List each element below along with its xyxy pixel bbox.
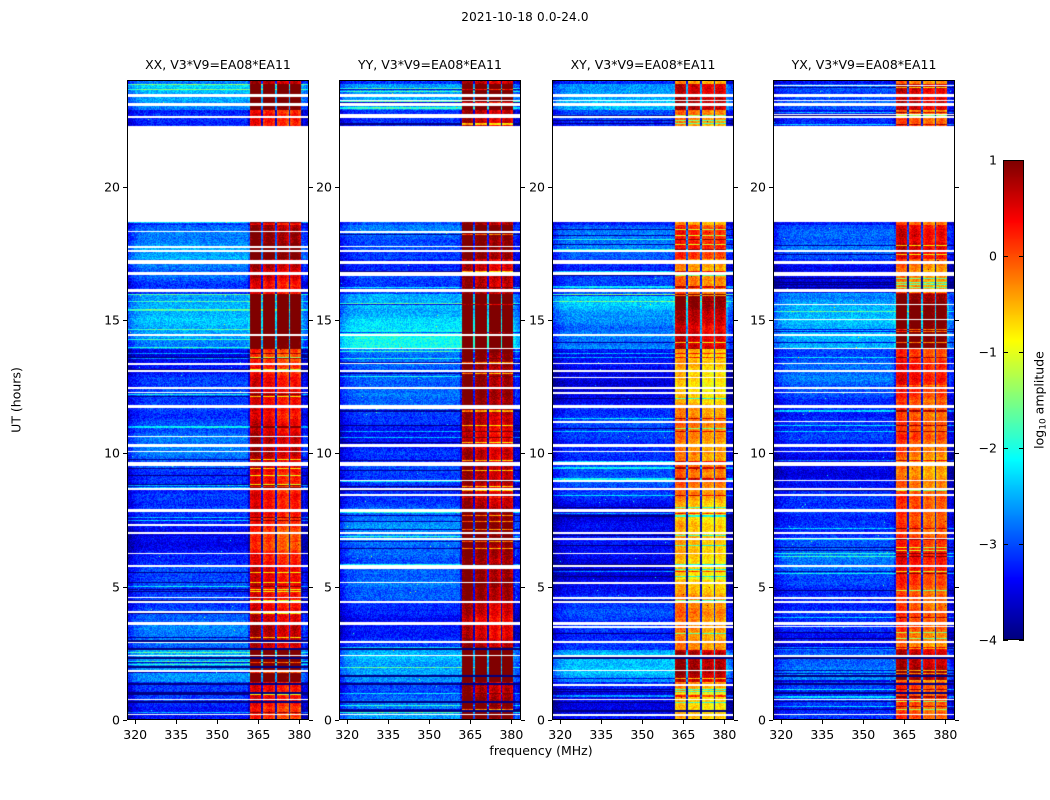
y-tick-mark-right	[309, 587, 313, 588]
y-tick-label: 10	[529, 446, 545, 461]
x-tick-label: 365	[671, 727, 695, 742]
y-tick-mark-right	[521, 187, 525, 188]
y-tick-label: 0	[324, 713, 332, 728]
x-tick-mark	[347, 720, 348, 724]
panel-xy[interactable]: XY, V3*V9=EA08*EA11320335350365380051015…	[552, 80, 734, 720]
y-tick-mark	[769, 320, 773, 321]
panel-title-xx: XX, V3*V9=EA08*EA11	[145, 57, 291, 72]
x-tick-label: 365	[458, 727, 482, 742]
y-tick-mark	[335, 187, 339, 188]
x-tick-label: 380	[499, 727, 523, 742]
x-tick-label: 320	[548, 727, 572, 742]
x-tick-label: 335	[376, 727, 400, 742]
y-tick-mark	[548, 453, 552, 454]
colorbar-tick-mark	[1003, 448, 1008, 449]
y-tick-mark-right	[734, 187, 738, 188]
colorbar-tick-mark	[1003, 352, 1008, 353]
y-tick-mark-right	[955, 187, 959, 188]
y-tick-mark-right	[521, 720, 525, 721]
colorbar[interactable]: −4−3−2−101	[1003, 160, 1024, 640]
colorbar-tick-mark-right	[1019, 352, 1024, 353]
y-tick-label: 20	[104, 179, 120, 194]
y-tick-mark-right	[955, 453, 959, 454]
x-tick-mark	[429, 720, 430, 724]
y-tick-label: 20	[750, 179, 766, 194]
x-tick-mark	[863, 720, 864, 724]
x-tick-mark	[217, 720, 218, 724]
waterfall-image-yy	[340, 81, 520, 719]
x-tick-label: 350	[630, 727, 654, 742]
y-tick-mark	[548, 587, 552, 588]
x-tick-mark	[781, 720, 782, 724]
x-tick-label: 320	[335, 727, 359, 742]
colorbar-tick-mark	[1003, 160, 1008, 161]
x-axis-label: frequency (MHz)	[489, 743, 592, 758]
y-tick-mark-right	[734, 320, 738, 321]
x-tick-label: 335	[164, 727, 188, 742]
panel-yy[interactable]: YY, V3*V9=EA08*EA11320335350365380051015…	[339, 80, 521, 720]
x-tick-label: 380	[933, 727, 957, 742]
x-tick-label: 365	[246, 727, 270, 742]
y-tick-label: 10	[750, 446, 766, 461]
y-tick-label: 10	[316, 446, 332, 461]
figure-suptitle: 2021-10-18 0.0-24.0	[0, 10, 1050, 24]
panel-title-xy: XY, V3*V9=EA08*EA11	[571, 57, 716, 72]
colorbar-tick-mark-right	[1019, 544, 1024, 545]
colorbar-label: log10 amplitude	[1032, 351, 1047, 449]
y-tick-label: 5	[112, 579, 120, 594]
y-tick-mark-right	[521, 320, 525, 321]
y-tick-mark	[769, 187, 773, 188]
waterfall-axes-yy[interactable]	[339, 80, 521, 720]
x-tick-mark	[388, 720, 389, 724]
y-tick-mark-right	[734, 453, 738, 454]
x-tick-mark	[601, 720, 602, 724]
y-tick-label: 5	[758, 579, 766, 594]
y-tick-mark	[123, 187, 127, 188]
x-tick-mark	[258, 720, 259, 724]
y-tick-mark-right	[309, 453, 313, 454]
y-tick-mark	[123, 720, 127, 721]
x-tick-mark	[299, 720, 300, 724]
panel-yx[interactable]: YX, V3*V9=EA08*EA11320335350365380051015…	[773, 80, 955, 720]
waterfall-image-xx	[128, 81, 308, 719]
waterfall-image-xy	[553, 81, 733, 719]
x-tick-mark	[945, 720, 946, 724]
y-tick-mark	[769, 720, 773, 721]
x-tick-label: 335	[810, 727, 834, 742]
x-tick-label: 320	[769, 727, 793, 742]
y-tick-mark-right	[521, 453, 525, 454]
y-tick-mark	[335, 720, 339, 721]
y-tick-mark	[335, 453, 339, 454]
y-tick-mark	[548, 187, 552, 188]
y-tick-label: 0	[537, 713, 545, 728]
colorbar-tick-mark-right	[1019, 448, 1024, 449]
colorbar-tick-mark-right	[1019, 160, 1024, 161]
x-tick-mark	[642, 720, 643, 724]
x-tick-mark	[470, 720, 471, 724]
waterfall-axes-yx[interactable]	[773, 80, 955, 720]
colorbar-tick-label: 0	[989, 249, 997, 264]
y-tick-mark-right	[955, 587, 959, 588]
y-tick-label: 15	[104, 313, 120, 328]
colorbar-label-prefix: log	[1032, 430, 1047, 449]
panel-xx[interactable]: XX, V3*V9=EA08*EA11320335350365380051015…	[127, 80, 309, 720]
x-tick-mark	[683, 720, 684, 724]
y-tick-label: 0	[112, 713, 120, 728]
colorbar-gradient	[1003, 160, 1024, 640]
colorbar-tick-label: −1	[979, 345, 997, 360]
x-tick-label: 350	[851, 727, 875, 742]
y-tick-mark	[123, 320, 127, 321]
x-tick-label: 350	[417, 727, 441, 742]
x-tick-mark	[511, 720, 512, 724]
x-tick-mark	[135, 720, 136, 724]
y-tick-label: 10	[104, 446, 120, 461]
colorbar-tick-mark	[1003, 640, 1008, 641]
y-tick-mark-right	[955, 720, 959, 721]
panel-title-yx: YX, V3*V9=EA08*EA11	[792, 57, 937, 72]
y-axis-label: UT (hours)	[9, 367, 24, 433]
colorbar-tick-label: −3	[979, 537, 997, 552]
x-tick-mark	[822, 720, 823, 724]
colorbar-tick-mark-right	[1019, 256, 1024, 257]
y-tick-label: 15	[529, 313, 545, 328]
y-tick-label: 0	[758, 713, 766, 728]
y-tick-mark	[123, 453, 127, 454]
y-tick-label: 5	[537, 579, 545, 594]
y-tick-mark	[335, 587, 339, 588]
y-tick-mark	[548, 720, 552, 721]
x-tick-label: 350	[205, 727, 229, 742]
y-tick-mark-right	[309, 320, 313, 321]
panel-title-yy: YY, V3*V9=EA08*EA11	[358, 57, 502, 72]
y-tick-label: 15	[316, 313, 332, 328]
x-tick-mark	[724, 720, 725, 724]
colorbar-tick-label: 1	[989, 153, 997, 168]
y-tick-mark-right	[309, 720, 313, 721]
y-tick-mark	[123, 587, 127, 588]
y-tick-mark	[335, 320, 339, 321]
x-tick-mark	[176, 720, 177, 724]
y-tick-label: 20	[316, 179, 332, 194]
y-tick-mark-right	[734, 720, 738, 721]
y-tick-mark	[769, 587, 773, 588]
y-tick-label: 5	[324, 579, 332, 594]
waterfall-axes-xy[interactable]	[552, 80, 734, 720]
x-tick-label: 380	[712, 727, 736, 742]
colorbar-tick-label: −2	[979, 441, 997, 456]
x-tick-label: 380	[287, 727, 311, 742]
y-tick-mark	[548, 320, 552, 321]
y-tick-mark-right	[309, 187, 313, 188]
waterfall-image-yx	[774, 81, 954, 719]
y-tick-label: 15	[750, 313, 766, 328]
x-tick-label: 335	[589, 727, 613, 742]
y-tick-mark-right	[734, 587, 738, 588]
colorbar-tick-mark-right	[1019, 640, 1024, 641]
figure-canvas: 2021-10-18 0.0-24.0 UT (hours) frequency…	[0, 0, 1050, 800]
y-tick-mark	[769, 453, 773, 454]
y-tick-mark-right	[521, 587, 525, 588]
colorbar-tick-label: −4	[979, 633, 997, 648]
x-tick-label: 320	[123, 727, 147, 742]
x-tick-mark	[560, 720, 561, 724]
colorbar-tick-mark	[1003, 256, 1008, 257]
x-tick-mark	[904, 720, 905, 724]
y-tick-mark-right	[955, 320, 959, 321]
colorbar-label-subscript: 10	[1039, 418, 1049, 429]
waterfall-axes-xx[interactable]	[127, 80, 309, 720]
x-tick-label: 365	[892, 727, 916, 742]
colorbar-label-suffix: amplitude	[1032, 351, 1047, 418]
colorbar-tick-mark	[1003, 544, 1008, 545]
y-tick-label: 20	[529, 179, 545, 194]
